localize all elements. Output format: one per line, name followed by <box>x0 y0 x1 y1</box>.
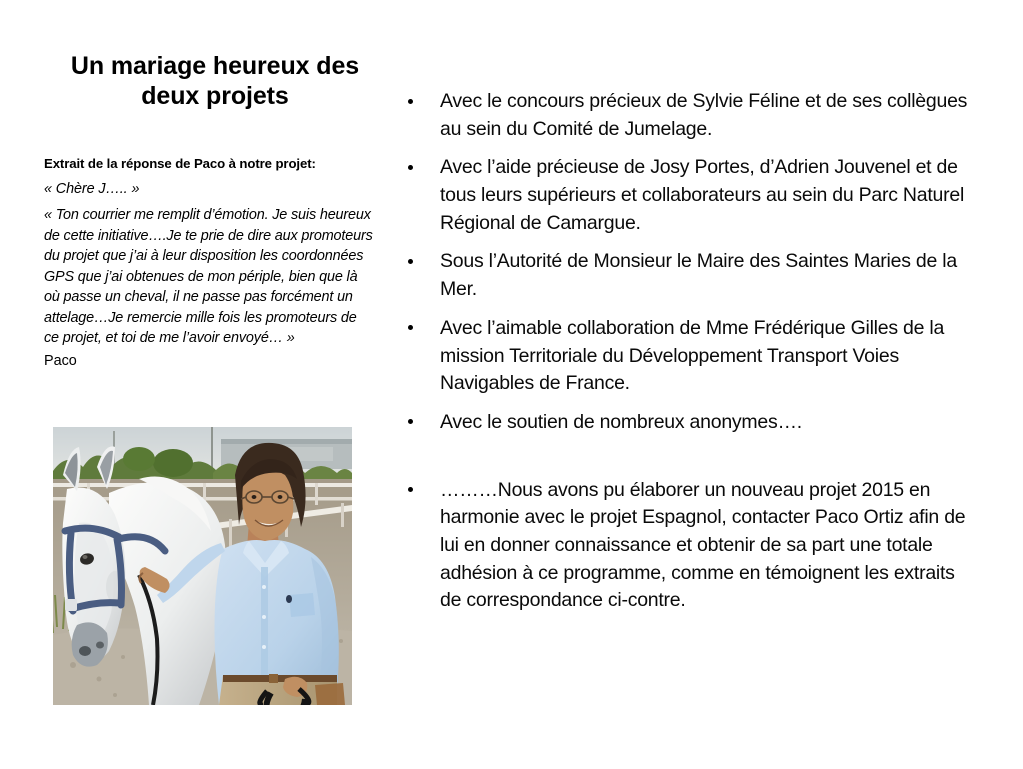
bullet-dot-icon <box>408 259 413 264</box>
quote-signature: Paco <box>44 352 386 371</box>
list-item-text: ………Nous avons pu élaborer un nouveau pro… <box>440 479 965 612</box>
bullet-list: Avec le concours précieux de Sylvie Féli… <box>398 88 978 615</box>
list-item: Avec le soutien de nombreux anonymes…. <box>398 409 978 437</box>
bullet-dot-icon <box>408 99 413 104</box>
photo-paco-with-horse <box>53 427 352 705</box>
list-item-text: Avec le concours précieux de Sylvie Féli… <box>440 90 967 140</box>
list-item: Avec l’aimable collaboration de Mme Fréd… <box>398 315 978 398</box>
page-title: Un mariage heureux des deux projets <box>44 52 386 111</box>
list-item-text: Avec l’aimable collaboration de Mme Fréd… <box>440 317 944 394</box>
right-bullet-column: Avec le concours précieux de Sylvie Féli… <box>398 88 978 626</box>
list-item-text: Avec l’aide précieuse de Josy Portes, d’… <box>440 156 964 233</box>
left-text-column: Un mariage heureux des deux projets Extr… <box>44 52 386 371</box>
list-item: Avec le concours précieux de Sylvie Féli… <box>398 88 978 143</box>
list-item: Avec l’aide précieuse de Josy Portes, d’… <box>398 154 978 237</box>
bullet-dot-icon <box>408 419 413 424</box>
extrait-heading: Extrait de la réponse de Paco à notre pr… <box>44 155 386 172</box>
photo-illustration <box>53 427 352 705</box>
list-item-text: Avec le soutien de nombreux anonymes…. <box>440 411 802 433</box>
list-item-text: Sous l’Autorité de Monsieur le Maire des… <box>440 250 957 300</box>
bullet-dot-icon <box>408 325 413 330</box>
bullet-dot-icon <box>408 165 413 170</box>
list-item: Sous l’Autorité de Monsieur le Maire des… <box>398 248 978 303</box>
quote-salutation: « Chère J….. » <box>44 180 386 199</box>
bullet-dot-icon <box>408 487 413 492</box>
quote-body: « Ton courrier me remplit d’émotion. Je … <box>44 205 374 348</box>
presentation-slide: Un mariage heureux des deux projets Extr… <box>0 0 1023 769</box>
list-item: ………Nous avons pu élaborer un nouveau pro… <box>398 477 978 615</box>
